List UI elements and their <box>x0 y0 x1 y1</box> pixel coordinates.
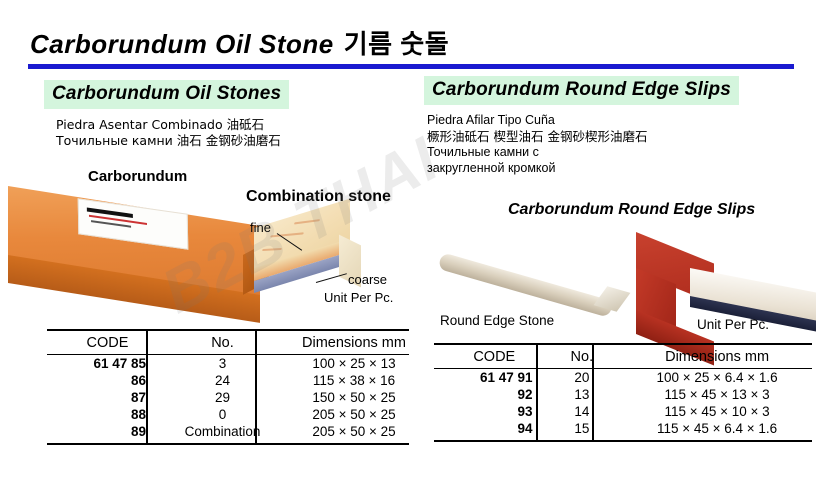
title-divider <box>28 64 794 69</box>
cell-code: 94 <box>434 420 555 437</box>
round-edge-stone-label: Round Edge Stone <box>440 313 554 328</box>
table-row: 9213115 × 45 × 13 × 3 <box>434 386 825 403</box>
right-unit-per-pc: Unit Per Pc. <box>697 317 769 332</box>
table-row: 61 47 9120100 × 25 × 6.4 × 1.6 <box>434 369 825 386</box>
cell-code: 61 47 91 <box>434 369 555 386</box>
cell-no: Combination <box>168 423 277 440</box>
right-table-bottom-rule <box>434 440 812 442</box>
cell-code: 87 <box>47 389 168 406</box>
table-row: 9415115 × 45 × 6.4 × 1.6 <box>434 420 825 437</box>
table-row: 8729150 × 50 × 25 <box>47 389 431 406</box>
right-section-title: Carborundum Round Edge Slips <box>424 76 739 105</box>
round-edge-stone-bar <box>438 252 614 317</box>
left-table-bottom-rule <box>47 443 409 445</box>
left-subtitle-0: Piedra Asentar Combinado 油砥石 <box>56 117 281 132</box>
cell-code: 88 <box>47 406 168 423</box>
cell-code: 93 <box>434 403 555 420</box>
fine-label: fine <box>250 220 271 235</box>
left-subtitles: Piedra Asentar Combinado 油砥石 Точильные к… <box>56 117 281 149</box>
combination-stone-figure-label: Combination stone <box>246 188 391 206</box>
right-subtitles: Piedra Afilar Tipo Cuña 橛形油砥石 楔型油石 金钢砂楔形… <box>427 113 647 177</box>
cell-dimensions: 205 × 50 × 25 <box>277 423 431 440</box>
cell-no: 14 <box>555 403 610 420</box>
cell-dimensions: 150 × 50 × 25 <box>277 389 431 406</box>
table-row: 9314115 × 45 × 10 × 3 <box>434 403 825 420</box>
carborundum-figure-label: Carborundum <box>88 168 187 185</box>
right-figure-heading: Carborundum Round Edge Slips <box>508 201 755 219</box>
left-subtitle-1: Точильные камни 油石 金钢砂油磨石 <box>56 133 281 148</box>
left-header-dimensions: Dimensions mm <box>277 331 431 355</box>
cell-dimensions: 115 × 45 × 13 × 3 <box>609 386 825 403</box>
cell-dimensions: 205 × 50 × 25 <box>277 406 431 423</box>
cell-no: 15 <box>555 420 610 437</box>
cell-no: 3 <box>168 355 277 372</box>
page-title-kr: 기름 숫돌 <box>344 29 449 59</box>
right-section-band: Carborundum Round Edge Slips <box>424 76 739 105</box>
table-row: 89Combination205 × 50 × 25 <box>47 423 431 440</box>
cell-dimensions: 115 × 45 × 10 × 3 <box>609 403 825 420</box>
left-section-title: Carborundum Oil Stones <box>44 80 289 109</box>
cell-no: 24 <box>168 372 277 389</box>
right-header-code: CODE <box>434 345 555 369</box>
left-header-code: CODE <box>47 331 168 355</box>
page-title: Carborundum Oil Stone기름 숫돌 <box>30 24 449 61</box>
left-table-header-row: CODE No. Dimensions mm <box>47 331 431 355</box>
right-product-table: CODE No. Dimensions mm 61 47 9120100 × 2… <box>434 345 825 437</box>
right-subtitle-3: закругленной кромкой <box>427 161 647 176</box>
left-section-band: Carborundum Oil Stones <box>44 80 289 109</box>
right-subtitle-1: 橛形油砥石 楔型油石 金钢砂楔形油磨石 <box>427 129 647 144</box>
coarse-label: coarse <box>348 272 387 287</box>
left-header-no: No. <box>168 331 277 355</box>
right-header-no: No. <box>555 345 610 369</box>
catalog-page: Carborundum Oil Stone기름 숫돌 Carborundum O… <box>0 0 825 480</box>
cell-dimensions: 100 × 25 × 6.4 × 1.6 <box>609 369 825 386</box>
cell-code: 89 <box>47 423 168 440</box>
table-row: 61 47 853100 × 25 × 13 <box>47 355 431 372</box>
cell-code: 92 <box>434 386 555 403</box>
cell-no: 0 <box>168 406 277 423</box>
table-row: 8624115 × 38 × 16 <box>47 372 431 389</box>
page-title-en: Carborundum Oil Stone <box>30 29 334 59</box>
left-product-table: CODE No. Dimensions mm 61 47 853100 × 25… <box>47 331 431 440</box>
cell-no: 20 <box>555 369 610 386</box>
cell-dimensions: 115 × 38 × 16 <box>277 372 431 389</box>
table-row: 880205 × 50 × 25 <box>47 406 431 423</box>
cell-no: 13 <box>555 386 610 403</box>
cell-dimensions: 100 × 25 × 13 <box>277 355 431 372</box>
right-subtitle-2: Точильные камни с <box>427 145 647 160</box>
cell-no: 29 <box>168 389 277 406</box>
right-table-header-row: CODE No. Dimensions mm <box>434 345 825 369</box>
cell-code: 86 <box>47 372 168 389</box>
right-subtitle-0: Piedra Afilar Tipo Cuña <box>427 113 647 128</box>
cell-code: 61 47 85 <box>47 355 168 372</box>
left-unit-per-pc: Unit Per Pc. <box>324 290 393 305</box>
cell-dimensions: 115 × 45 × 6.4 × 1.6 <box>609 420 825 437</box>
right-header-dimensions: Dimensions mm <box>609 345 825 369</box>
